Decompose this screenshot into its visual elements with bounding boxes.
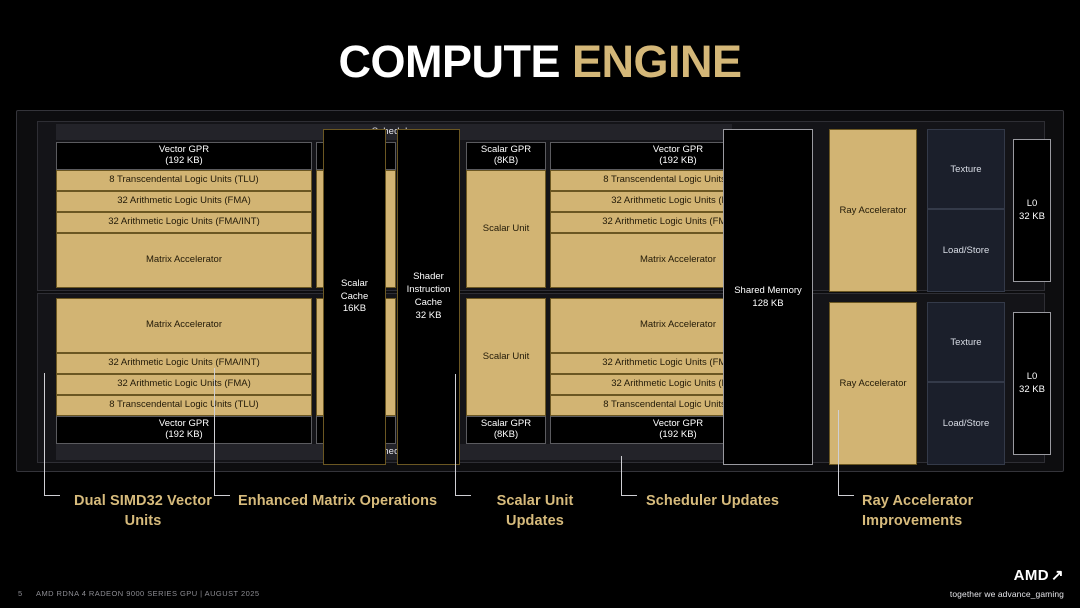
leader-line-scheduler	[621, 456, 637, 496]
tlu-row-top-left: 8 Transcendental Logic Units (TLU)	[56, 170, 312, 191]
matrix-accelerator-top-left: Matrix Accelerator	[56, 233, 312, 288]
texture-unit-top: Texture	[927, 129, 1005, 209]
texture-unit-bottom: Texture	[927, 302, 1005, 382]
callout-dual-simd32-vector-units: Dual SIMD32 Vector Units	[68, 491, 218, 531]
scheduler-bar-top: Scheduler	[56, 124, 732, 140]
l0-cache-top: L0 32 KB	[1013, 139, 1051, 282]
scalar-unit-top-right: Scalar Unit	[466, 170, 546, 288]
shared-memory-block: Shared Memory 128 KB	[723, 129, 813, 465]
callout-enhanced-matrix-operations: Enhanced Matrix Operations	[238, 491, 438, 511]
footer-text: AMD RDNA 4 RADEON 9000 SERIES GPU | AUGU…	[36, 589, 259, 598]
vector-gpr-top-left: Vector GPR (192 KB)	[56, 142, 312, 170]
scalar-cache-block: Scalar Cache 16KB	[323, 129, 386, 465]
alu-fma-row-bottom-left: 32 Arithmetic Logic Units (FMA)	[56, 374, 312, 395]
scalar-unit-bottom-right: Scalar Unit	[466, 298, 546, 416]
title-word-engine: ENGINE	[572, 36, 742, 87]
compute-engine-diagram: Scheduler Vector GPR (192 KB) 8 Transcen…	[16, 110, 1064, 472]
footer-page-number: 5	[18, 589, 22, 598]
l0-cache-bottom: L0 32 KB	[1013, 312, 1051, 455]
alu-fmaint-row-top-left: 32 Arithmetic Logic Units (FMA/INT)	[56, 212, 312, 233]
title-word-compute: COMPUTE	[338, 36, 560, 87]
callout-scheduler-updates: Scheduler Updates	[646, 491, 806, 511]
leader-line-dual-simd32	[44, 373, 60, 496]
leader-line-scalar-unit	[455, 374, 471, 496]
vector-gpr-bottom-left: Vector GPR (192 KB)	[56, 416, 312, 444]
load-store-unit-top: Load/Store	[927, 209, 1005, 292]
callout-ray-accelerator-improvements: Ray Accelerator Improvements	[862, 491, 1077, 531]
slide-root: COMPUTE ENGINE Scheduler Vector GPR (192…	[0, 0, 1080, 608]
leader-line-ray-accelerator	[838, 410, 854, 496]
scalar-gpr-bottom-right: Scalar GPR (8KB)	[466, 416, 546, 444]
amd-logo-text: AMD	[1014, 567, 1049, 584]
alu-fma-row-top-left: 32 Arithmetic Logic Units (FMA)	[56, 191, 312, 212]
matrix-accelerator-bottom-left: Matrix Accelerator	[56, 298, 312, 353]
shader-instruction-cache-block: Shader Instruction Cache 32 KB	[397, 129, 460, 465]
load-store-unit-bottom: Load/Store	[927, 382, 1005, 465]
scalar-gpr-top-right: Scalar GPR (8KB)	[466, 142, 546, 170]
amd-tagline: together we advance_gaming	[950, 589, 1064, 599]
amd-arrow-icon: ↗	[1051, 566, 1064, 584]
alu-fmaint-row-bottom-left: 32 Arithmetic Logic Units (FMA/INT)	[56, 353, 312, 374]
amd-logo: AMD↗	[1014, 566, 1064, 584]
callout-scalar-unit-updates: Scalar Unit Updates	[480, 491, 590, 531]
leader-line-matrix-ops	[214, 368, 230, 496]
page-title: COMPUTE ENGINE	[0, 36, 1080, 88]
tlu-row-bottom-left: 8 Transcendental Logic Units (TLU)	[56, 395, 312, 416]
ray-accelerator-top: Ray Accelerator	[829, 129, 917, 292]
